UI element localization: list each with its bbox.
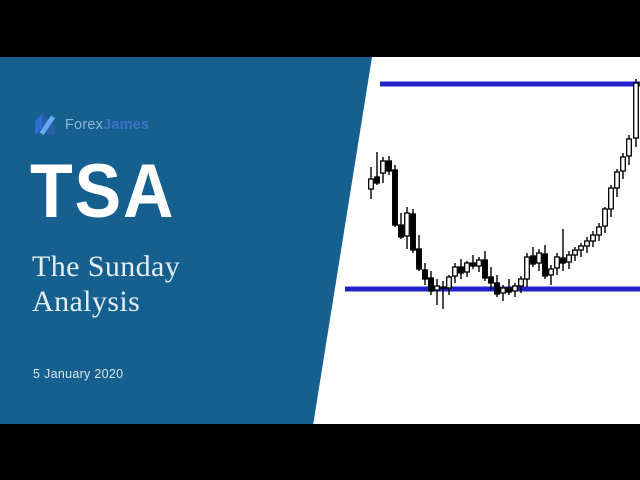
price-level-lines (345, 84, 640, 289)
candle-bearish (459, 267, 464, 273)
page-title: TSA (30, 157, 175, 227)
candle-bullish (369, 179, 374, 189)
candle-bullish (513, 286, 518, 291)
candle-bearish (543, 254, 548, 276)
candle-bearish (489, 277, 494, 283)
candle-bullish (609, 188, 614, 209)
candle-bearish (393, 170, 398, 225)
candle-bullish (627, 139, 632, 156)
candle-bullish (405, 213, 410, 236)
brand-wordmark: ForexJames (65, 118, 149, 133)
candle-bearish (423, 270, 428, 279)
candle-bullish (615, 172, 620, 188)
candle-bullish (381, 161, 386, 173)
slide-canvas: ForexJames TSA The Sunday Analysis 5 Jan… (0, 57, 640, 424)
candle-bullish (591, 235, 596, 241)
letterbox-top (0, 0, 640, 57)
brand-logo-lockup[interactable]: ForexJames (32, 112, 149, 138)
candle-bullish (453, 267, 458, 276)
candle-bearish (483, 260, 488, 278)
candle-bullish (519, 279, 524, 286)
candle-bullish (579, 246, 584, 250)
candle-bullish (555, 257, 560, 268)
candle-bearish (375, 177, 380, 183)
candle-bullish (435, 286, 440, 290)
candle-bullish (477, 260, 482, 266)
candle-bearish (387, 161, 392, 171)
letterbox-bottom (0, 424, 640, 480)
candle-bullish (603, 209, 608, 226)
candle-bullish (597, 227, 602, 235)
candle-bearish (411, 214, 416, 250)
candle-bearish (429, 278, 434, 291)
candle-bullish (501, 288, 506, 293)
candle-bullish (525, 257, 530, 279)
candle-bearish (561, 258, 566, 263)
candle-bullish (549, 269, 554, 275)
video-frame: ForexJames TSA The Sunday Analysis 5 Jan… (0, 0, 640, 480)
candle-bearish (531, 256, 536, 264)
candle-bullish (537, 253, 542, 263)
candle-bearish (399, 225, 404, 237)
candle-bullish (585, 241, 590, 246)
candle-bullish (573, 250, 578, 255)
page-subtitle: The Sunday Analysis (32, 249, 180, 320)
brand-wordmark-forex: Forex (65, 117, 103, 133)
candle-bullish (465, 263, 470, 272)
brand-wordmark-james: James (103, 117, 149, 133)
candle-bullish (567, 255, 572, 262)
candle-bullish (634, 83, 639, 138)
candle-series (369, 79, 639, 309)
candle-bullish (447, 277, 452, 288)
candle-bearish (495, 283, 500, 294)
candle-bearish (507, 288, 512, 292)
candle-bearish (417, 249, 422, 269)
candle-bullish (621, 157, 626, 171)
forexjames-n-mark-icon (32, 112, 58, 138)
candle-bearish (471, 263, 476, 266)
candle-bearish (441, 287, 446, 288)
issue-date: 5 January 2020 (33, 367, 123, 381)
